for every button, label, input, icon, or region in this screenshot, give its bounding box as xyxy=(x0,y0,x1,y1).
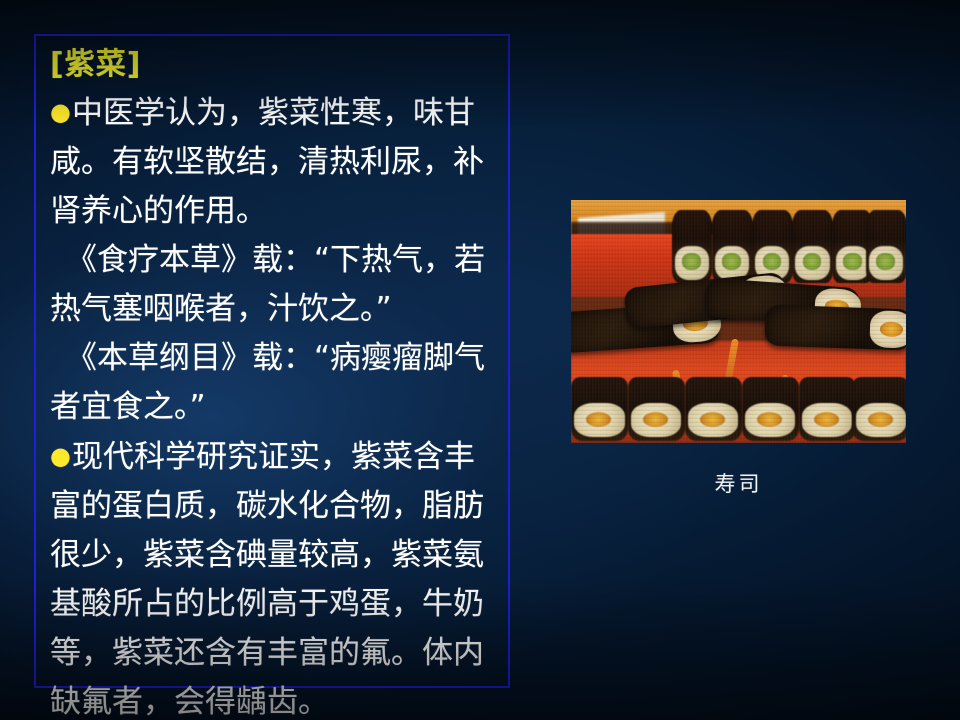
panel-line-text: 基酸所占的比例高于鸡蛋，牛奶 xyxy=(50,586,484,622)
sushi-roll-front xyxy=(765,304,906,350)
panel-line: 者宜食之。” xyxy=(50,383,500,432)
sushi-roll-back xyxy=(712,210,753,283)
panel-line: 基酸所占的比例高于鸡蛋，牛奶 xyxy=(50,580,500,629)
sushi-roll-bottom xyxy=(685,377,742,440)
panel-line-text: 等，紫菜还含有丰富的氟。体内 xyxy=(50,635,484,671)
panel-line: 富的蛋白质，碳水化合物，脂肪 xyxy=(50,482,500,531)
panel-line-text: 现代科学研究证实，紫菜含丰 xyxy=(72,439,475,475)
panel-line: ●中医学认为，紫菜性寒，味甘 xyxy=(50,88,500,138)
panel-line: 肾养心的作用。 xyxy=(50,187,500,236)
bullet-icon: ● xyxy=(50,442,71,470)
sushi-rolls-photo xyxy=(571,200,906,443)
panel-line: 缺氟者，会得龋齿。 xyxy=(50,678,500,720)
panel-title: [紫菜] xyxy=(50,42,500,88)
panel-line: ●现代科学研究证实，紫菜含丰 xyxy=(50,432,500,482)
sushi-roll-back xyxy=(866,210,906,283)
panel-line-text: 热气塞咽喉者，汁饮之。” xyxy=(50,291,392,327)
panel-line-text: 富的蛋白质，碳水化合物，脂肪 xyxy=(50,488,484,524)
panel-line-text: 肾养心的作用。 xyxy=(50,193,267,229)
panel-line: 很少，紫菜含碘量较高，紫菜氨 xyxy=(50,531,500,580)
panel-line-text: 《食疗本草》载：“下热气，若 xyxy=(66,242,485,278)
panel-line: 咸。有软坚散结，清热利尿，补 xyxy=(50,138,500,187)
panel-line-text: 中医学认为，紫菜性寒，味甘 xyxy=(72,95,475,131)
sushi-roll-back xyxy=(752,210,793,283)
sushi-photo-frame xyxy=(571,200,906,443)
panel-line: 《本草纲目》载：“病瘿瘤脚气 xyxy=(50,334,500,383)
bullet-icon: ● xyxy=(50,98,71,126)
panel-line: 热气塞咽喉者，汁饮之。” xyxy=(50,285,500,334)
panel-line-text: 缺氟者，会得龋齿。 xyxy=(50,684,329,720)
sushi-roll-bottom xyxy=(571,377,628,440)
sushi-roll-back xyxy=(792,210,833,283)
photo-caption: 寿司 xyxy=(571,468,906,498)
sushi-roll-back xyxy=(672,210,713,283)
sushi-roll-bottom xyxy=(628,377,685,440)
slide-canvas: [紫菜] ●中医学认为，紫菜性寒，味甘咸。有软坚散结，清热利尿，补肾养心的作用。… xyxy=(0,0,960,720)
panel-line-text: 者宜食之。” xyxy=(50,389,206,425)
sushi-roll-bottom xyxy=(852,377,906,440)
panel-line-text: 咸。有软坚散结，清热利尿，补 xyxy=(50,144,484,180)
panel-line: 等，紫菜还含有丰富的氟。体内 xyxy=(50,629,500,678)
sushi-roll-bottom xyxy=(799,377,856,440)
sushi-roll-bottom xyxy=(742,377,799,440)
content-text-panel: [紫菜] ●中医学认为，紫菜性寒，味甘咸。有软坚散结，清热利尿，补肾养心的作用。… xyxy=(34,34,510,688)
panel-body-lines: ●中医学认为，紫菜性寒，味甘咸。有软坚散结，清热利尿，补肾养心的作用。《食疗本草… xyxy=(50,88,500,720)
panel-line-text: 很少，紫菜含碘量较高，紫菜氨 xyxy=(50,537,484,573)
panel-line-text: 《本草纲目》载：“病瘿瘤脚气 xyxy=(66,340,485,376)
panel-line: 《食疗本草》载：“下热气，若 xyxy=(50,236,500,285)
